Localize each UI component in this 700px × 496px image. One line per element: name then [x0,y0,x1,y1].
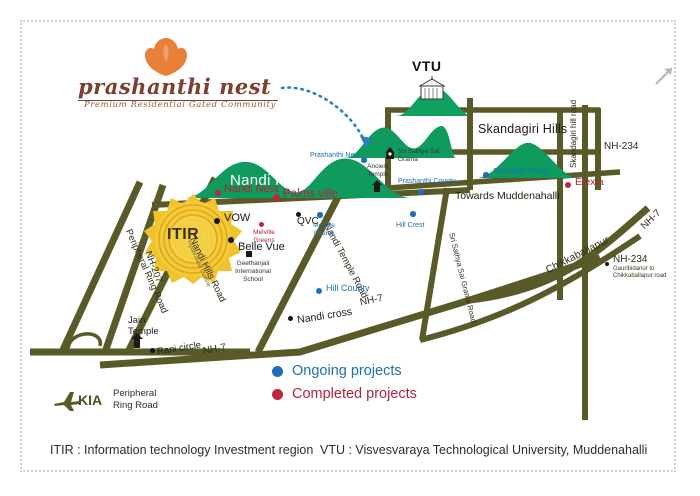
marker-melville-county[interactable] [317,212,323,218]
project-label-vow: VOW [224,213,250,225]
nandi-cross-dot [288,316,293,321]
project-label-skandagiri-county: Skandagiri County [493,168,550,175]
marker-skandagiri-county[interactable] [483,172,489,178]
ancient-temple-icon [371,180,383,193]
temple-marker-icon [130,333,144,349]
project-label-prashanthi-county: Prashanthi County [398,178,456,185]
project-label-nandi-nest: Nandi Nest [224,184,278,196]
road-label-skandagiri-hill-road: Skandagiri hill road [570,100,578,168]
marker-palms-ville[interactable] [273,194,280,201]
rani-circle-dot [150,348,155,353]
legend-completed-dot [272,389,283,400]
geethanjali-school-label: Geethanjali International School [231,260,275,284]
brand-name: prashanthi nest [78,74,278,101]
marker-belle-vue[interactable] [228,237,234,243]
marker-hill-county[interactable] [316,288,322,294]
nh-234-bottom-sub: Gauribidanur to Chikkaballapur road [613,266,675,280]
legend-ongoing: Ongoing projects [272,363,402,379]
marker-vow[interactable] [214,218,220,224]
logo-pointer-arrow [280,82,380,162]
sri-sathya-sai-grama-label: Sri Sathya Sai Grama [398,148,440,165]
project-label-palms-ville: Palms ville [283,188,338,200]
legend-ongoing-dot [272,366,283,377]
lotus-arch-icon [144,38,188,76]
vtu-label: VTU [412,58,442,74]
temple-icon [384,147,396,160]
road-label-nh-234-top: NH-234 [604,142,638,153]
nh-234-bottom-dot [605,262,609,266]
legend-ongoing-label: Ongoing projects [292,363,402,379]
kia-label: KIA [78,393,102,408]
legend-completed-label: Completed projects [292,386,417,402]
marker-elexia[interactable] [565,182,571,188]
project-label-hill-crest: Hill Crest [396,222,424,229]
skandagiri-hills-label: Skandagiri Hills [478,122,567,136]
road-label-towards-muddenahalli: Towards Muddenahalli [455,191,559,202]
peripheral-ring-road-bottom-label: Peripheral Ring Road [113,388,167,412]
marker-hill-crest[interactable] [410,211,416,217]
footer-vtu-expansion: VTU : Visvesvaraya Technological Univers… [320,443,647,457]
marker-nandi-nest[interactable] [215,190,221,196]
project-label-hill-county: Hill County [326,284,370,293]
ancient-temple-label: Ancient Temple [363,163,393,179]
project-label-elexia: Elexia [575,177,604,188]
marker-melville-greens[interactable] [259,222,264,227]
marker-prashanthi-county[interactable] [418,189,424,195]
brand-tagline: Premium Residential Gated Community [84,100,284,110]
brand-logo: prashanthi nest Premium Residential Gate… [78,38,278,110]
nh-234-bottom-title: NH-234 [613,255,647,266]
map-canvas: Nandi Hills VTU Skandagiri Hills [0,0,700,496]
project-label-belle-vue: Belle Vue [238,242,285,254]
project-label-melville-county: Melville County [306,222,342,239]
legend-completed: Completed projects [272,386,417,402]
footer-itir-expansion: ITIR : Information technology Investment… [50,443,313,457]
university-building-icon [414,76,450,102]
